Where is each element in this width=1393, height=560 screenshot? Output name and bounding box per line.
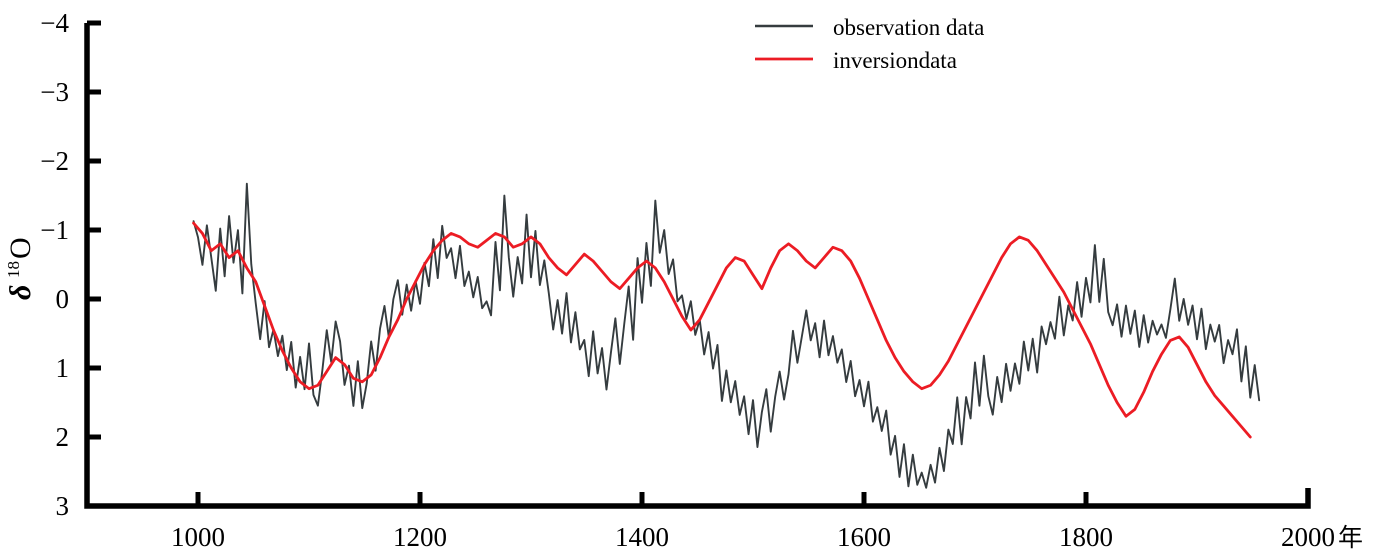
chart-legend: observation datainversiondata: [755, 15, 984, 73]
chart-canvas: −4−3−2−10123100012001400160018002000年 ob…: [0, 0, 1393, 560]
y-tick-label: 2: [56, 422, 70, 452]
y-tick-label: 3: [56, 491, 70, 521]
x-tick-label: 1200: [393, 522, 447, 552]
data-series-group: [194, 184, 1260, 488]
axis-spine: [87, 23, 1308, 506]
legend-label-observation: observation data: [833, 15, 984, 40]
x-tick-label: 1600: [837, 522, 891, 552]
series-inversion-data: [194, 223, 1251, 437]
isotope-time-series-chart: −4−3−2−10123100012001400160018002000年 ob…: [0, 0, 1393, 560]
y-tick-label: −3: [40, 77, 69, 107]
y-tick-label: 0: [56, 284, 70, 314]
y-axis-label-superscript: 18: [4, 261, 23, 278]
legend-label-inversion: inversiondata: [833, 48, 957, 73]
x-tick-label: 1000: [171, 522, 225, 552]
y-axis-label-element: O: [4, 237, 37, 259]
axes-group: −4−3−2−10123100012001400160018002000年: [40, 8, 1363, 552]
y-axis-label-symbol: δ: [4, 285, 37, 300]
x-tick-label: 1400: [615, 522, 669, 552]
axis-labels-group: δ18O: [4, 237, 37, 300]
x-tick-label: 1800: [1059, 522, 1113, 552]
x-axis-unit-label: 年: [1338, 524, 1363, 552]
y-tick-label: 1: [56, 353, 70, 383]
x-tick-label: 2000: [1281, 522, 1335, 552]
y-tick-label: −2: [40, 146, 69, 176]
y-axis-label: δ18O: [4, 237, 37, 300]
y-tick-label: −4: [40, 8, 69, 38]
series-observation-data: [194, 184, 1260, 488]
y-tick-label: −1: [40, 215, 69, 245]
